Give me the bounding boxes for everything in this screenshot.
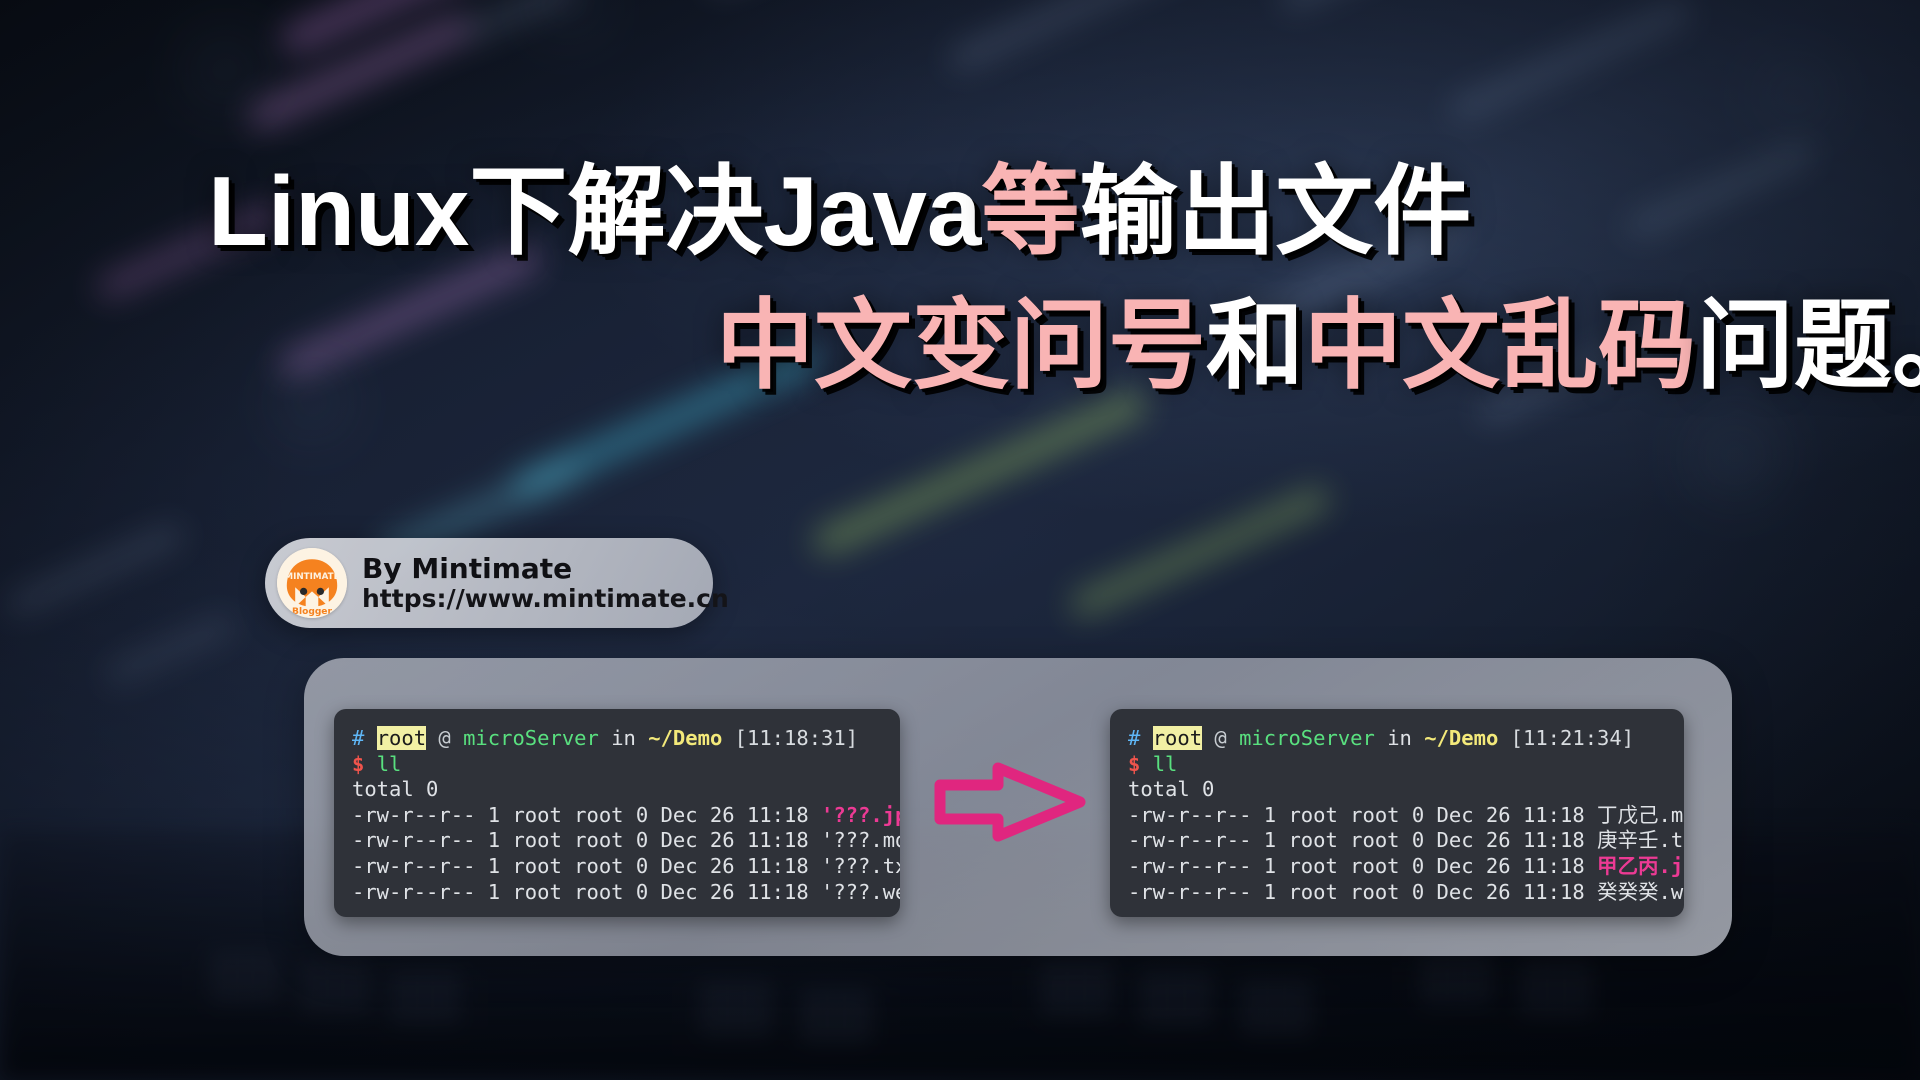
left-prompt-at: @ bbox=[438, 726, 450, 750]
terminal-comparison-panel: # root @ microServer in ~/Demo [11:18:31… bbox=[304, 658, 1732, 956]
terminal-after[interactable]: # root @ microServer in ~/Demo [11:21:34… bbox=[1110, 709, 1684, 917]
title-line-1: Linux下解决Java等输出文件 bbox=[0, 152, 1920, 272]
title-line1-seg-1: 等 bbox=[981, 156, 1079, 266]
right-output-line-2: -rw-r--r-- 1 root root 0 Dec 26 11:18 庚辛… bbox=[1128, 828, 1684, 852]
left-output-line-0: total 0 bbox=[352, 777, 438, 801]
left-output-line-3: -rw-r--r-- 1 root root 0 Dec 26 11:18 '?… bbox=[352, 854, 900, 878]
title-line2-seg-1: 和 bbox=[1206, 290, 1304, 400]
right-output-line-4: -rw-r--r-- 1 root root 0 Dec 26 11:18 癸癸… bbox=[1128, 880, 1684, 904]
right-output-line-3: -rw-r--r-- 1 root root 0 Dec 26 11:18 bbox=[1128, 854, 1597, 878]
mintimate-logo-icon: MINTIMATE Blogger bbox=[277, 548, 347, 618]
right-output-line-1: -rw-r--r-- 1 root root 0 Dec 26 11:18 丁戊… bbox=[1128, 803, 1684, 827]
right-prompt-path: ~/Demo bbox=[1424, 726, 1498, 750]
right-arrow-icon bbox=[934, 756, 1086, 848]
title-line2-seg-2: 中文乱码 bbox=[1304, 290, 1696, 400]
left-prompt-host: microServer bbox=[463, 726, 599, 750]
right-output-line-0: total 0 bbox=[1128, 777, 1214, 801]
title-line2-seg-0: 中文变问号 bbox=[716, 290, 1206, 400]
left-prompt-hash: # bbox=[352, 726, 364, 750]
badge-website-url[interactable]: https://www.mintimate.cn bbox=[362, 585, 729, 612]
left-prompt-time: [11:18:31] bbox=[735, 726, 858, 750]
left-command: ll bbox=[377, 752, 402, 776]
terminal-before[interactable]: # root @ microServer in ~/Demo [11:18:31… bbox=[334, 709, 900, 917]
logo-brand-text: MINTIMATE bbox=[284, 572, 339, 582]
left-output-hl-1: '???.jpeg' bbox=[821, 803, 900, 827]
title-line1-seg-2: 输出文件 bbox=[1079, 156, 1471, 266]
right-command: ll bbox=[1153, 752, 1178, 776]
left-output-line-2: -rw-r--r-- 1 root root 0 Dec 26 11:18 '?… bbox=[352, 828, 900, 852]
right-prompt-time: [11:21:34] bbox=[1511, 726, 1634, 750]
left-prompt-path: ~/Demo bbox=[648, 726, 722, 750]
title-line1-seg-0: Linux下解决Java bbox=[208, 156, 981, 266]
left-output-line-1: -rw-r--r-- 1 root root 0 Dec 26 11:18 bbox=[352, 803, 821, 827]
logo-sub-text: Blogger bbox=[292, 607, 332, 617]
title-line-2: 中文变问号和中文乱码问题。 bbox=[0, 286, 1920, 406]
title-line2-seg-3: 问题。 bbox=[1696, 290, 1920, 400]
right-prompt-host: microServer bbox=[1239, 726, 1375, 750]
page-title: Linux下解决Java等输出文件 中文变问号和中文乱码问题。 bbox=[0, 152, 1920, 405]
author-badge[interactable]: MINTIMATE Blogger By Mintimate https://w… bbox=[265, 538, 713, 628]
badge-author-name: By Mintimate bbox=[362, 554, 729, 584]
right-prompt-at: @ bbox=[1214, 726, 1226, 750]
right-prompt-dollar: $ bbox=[1128, 752, 1140, 776]
left-prompt-dollar: $ bbox=[352, 752, 364, 776]
screenshot-root: Linux下解决Java等输出文件 中文变问号和中文乱码问题。 MINTIMAT… bbox=[0, 0, 1920, 1080]
right-prompt-in: in bbox=[1387, 726, 1412, 750]
right-prompt-hash: # bbox=[1128, 726, 1140, 750]
badge-text-group: By Mintimate https://www.mintimate.cn bbox=[362, 554, 729, 612]
right-output-hl-3: 甲乙丙.jpeg bbox=[1597, 854, 1684, 878]
right-prompt-user: root bbox=[1153, 726, 1202, 750]
left-prompt-in: in bbox=[611, 726, 636, 750]
left-prompt-user: root bbox=[377, 726, 426, 750]
left-output-line-4: -rw-r--r-- 1 root root 0 Dec 26 11:18 '?… bbox=[352, 880, 900, 904]
